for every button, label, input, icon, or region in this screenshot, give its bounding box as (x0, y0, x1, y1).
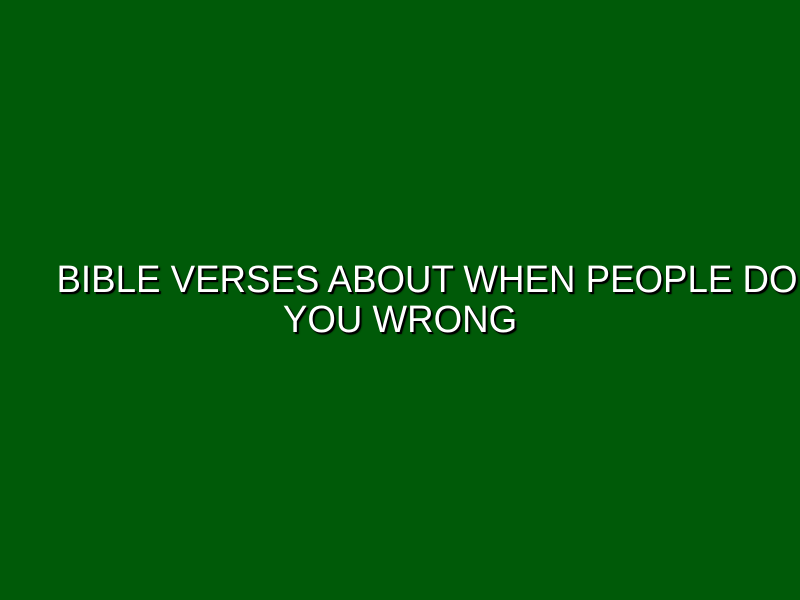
title-banner: BIBLE VERSES ABOUT WHEN PEOPLE DO YOU WR… (0, 0, 800, 600)
page-title: BIBLE VERSES ABOUT WHEN PEOPLE DO YOU WR… (44, 260, 756, 340)
title-line-2: YOU WRONG (56, 300, 743, 340)
title-line-1: BIBLE VERSES ABOUT WHEN PEOPLE DO (56, 260, 743, 300)
